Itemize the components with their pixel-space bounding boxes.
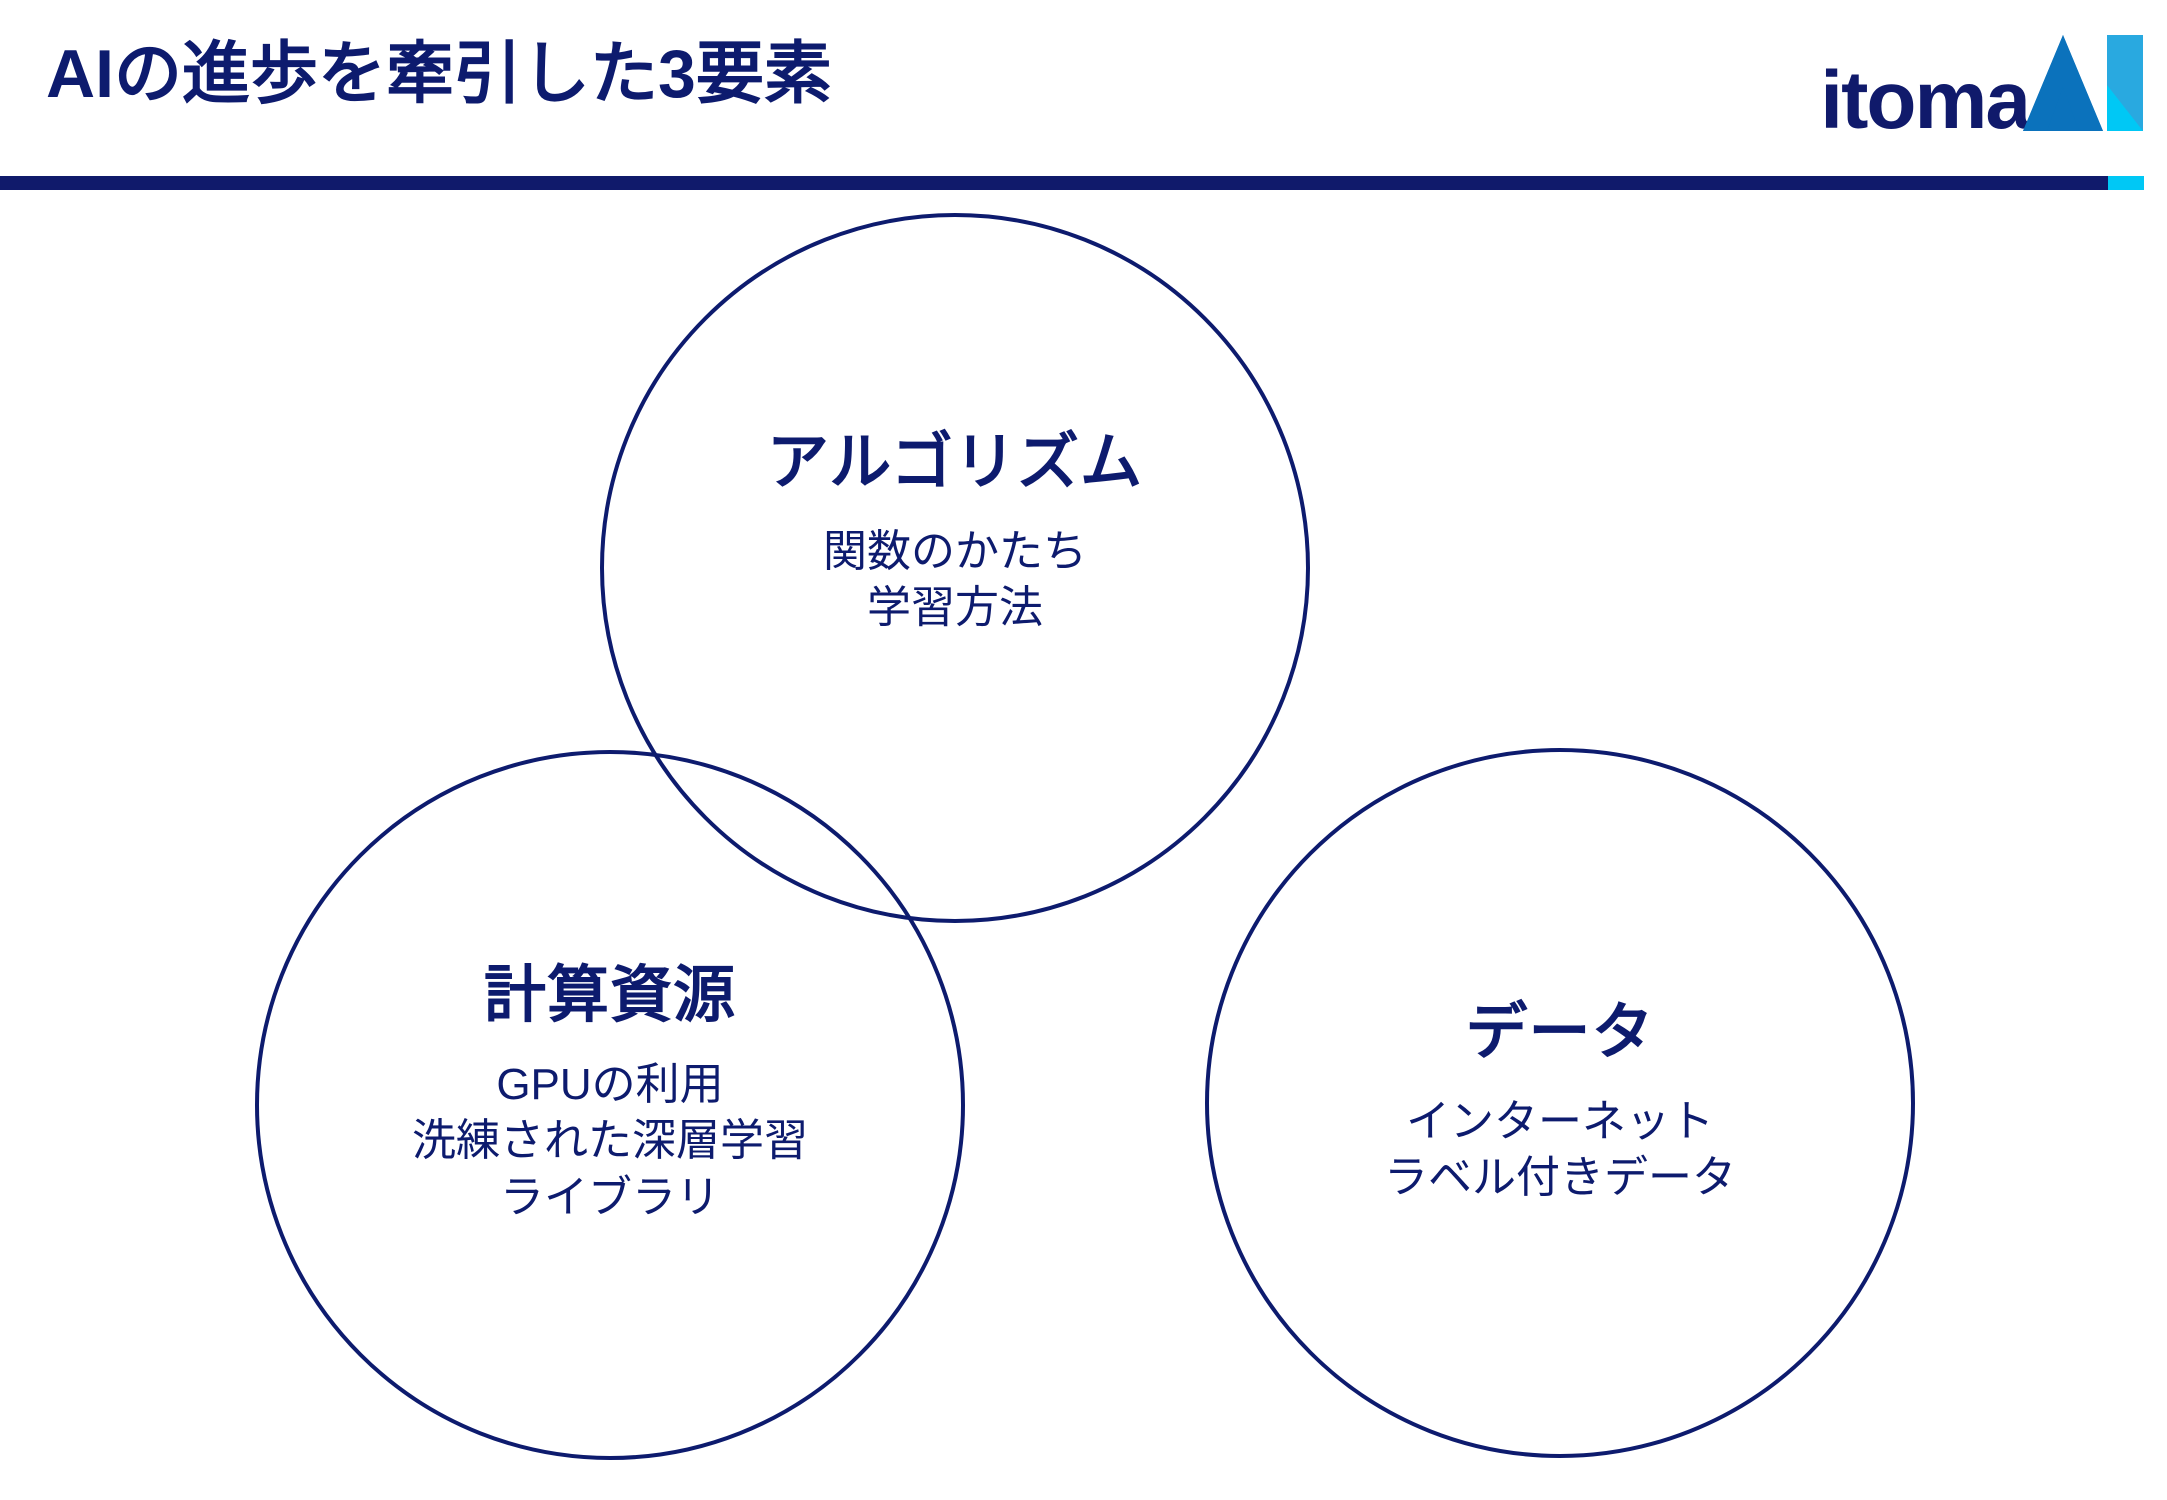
- header-divider: [0, 176, 2167, 190]
- circle-body-data: インターネット ラベル付きデータ: [1205, 1094, 1915, 1207]
- circle-body-line: ライブラリ: [255, 1170, 965, 1226]
- circle-heading-data: データ: [1205, 1002, 1915, 1064]
- divider-main-segment: [0, 176, 2108, 190]
- divider-accent-segment: [2108, 176, 2144, 190]
- slide: AIの進歩を牽引した3要素 itoma アルゴリズム 関数のかたち 学習方法: [0, 0, 2167, 1500]
- circle-body-algorithm: 関数のかたち 学習方法: [600, 524, 1310, 637]
- circle-content-algorithm: アルゴリズム 関数のかたち 学習方法: [600, 432, 1310, 637]
- logo-wordmark: itoma: [1820, 63, 2029, 138]
- circle-body-line: 学習方法: [600, 580, 1310, 636]
- circle-body-line: インターネット: [1205, 1094, 1915, 1150]
- brand-logo: itoma: [1820, 38, 2143, 138]
- circle-content-compute: 計算資源 GPUの利用 洗練された深層学習 ライブラリ: [255, 965, 965, 1226]
- venn-diagram: アルゴリズム 関数のかたち 学習方法 計算資源 GPUの利用 洗練された深層学習…: [0, 190, 2167, 1500]
- circle-body-line: 洗練された深層学習: [255, 1113, 965, 1169]
- circle-content-data: データ インターネット ラベル付きデータ: [1205, 1002, 1915, 1207]
- circle-heading-compute: 計算資源: [255, 965, 965, 1027]
- circle-body-line: GPUの利用: [255, 1057, 965, 1113]
- circle-body-line: ラベル付きデータ: [1205, 1150, 1915, 1206]
- circle-body-compute: GPUの利用 洗練された深層学習 ライブラリ: [255, 1057, 965, 1226]
- circle-body-line: 関数のかたち: [600, 524, 1310, 580]
- circle-heading-algorithm: アルゴリズム: [600, 432, 1310, 494]
- page-title: AIの進歩を牽引した3要素: [46, 40, 832, 108]
- itoma-ai-triangle-mark-icon: [2023, 35, 2143, 136]
